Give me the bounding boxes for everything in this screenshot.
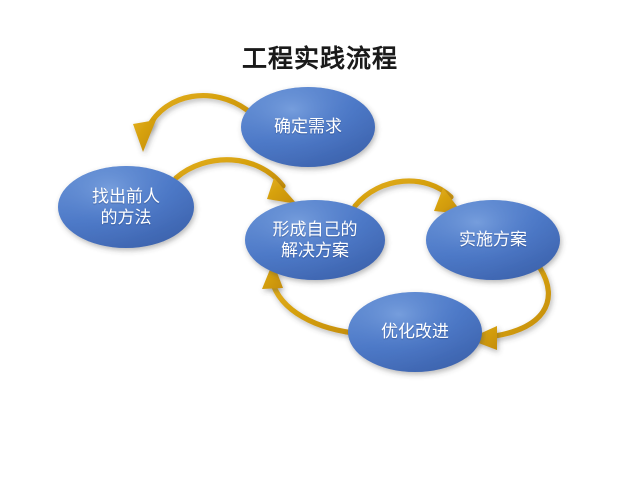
diagram-svg bbox=[0, 0, 640, 480]
node-requirements[interactable] bbox=[241, 87, 375, 167]
node-own-solution[interactable] bbox=[245, 200, 385, 280]
slide-canvas: 工程实践流程 bbox=[0, 0, 640, 480]
arrow-requirements-to-prior-art bbox=[133, 96, 247, 152]
node-optimize[interactable] bbox=[348, 292, 482, 372]
arrow-own-solution-to-implement bbox=[355, 181, 463, 214]
node-prior-art[interactable] bbox=[58, 166, 194, 248]
arrow-prior-art-to-own-solution bbox=[176, 160, 297, 204]
node-implement[interactable] bbox=[426, 200, 560, 280]
